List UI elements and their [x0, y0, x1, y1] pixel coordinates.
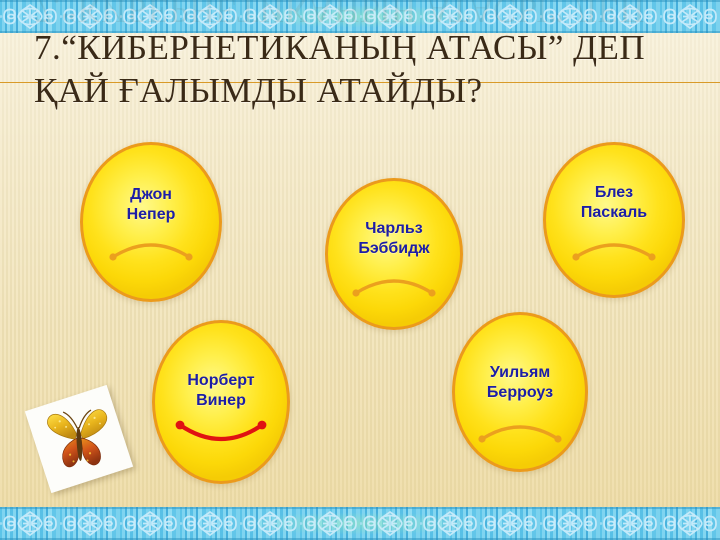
answer-label-uilyam-berrouz: Уильям Берроуз	[487, 363, 553, 403]
border-edge-line	[0, 507, 720, 509]
answer-option-uilyam-berrouz[interactable]: Уильям Берроуз	[452, 312, 588, 472]
presentation-slide: 7.“КИБЕРНЕТИКАНЫҢ АТАСЫ” ДЕП ҚАЙ ҒАЛЫМДЫ…	[0, 0, 720, 540]
frown-mouth-icon	[571, 235, 657, 261]
smile-mouth-icon	[174, 419, 268, 449]
answer-label-dzhon-neper: Джон Непер	[127, 185, 176, 225]
answer-option-norbert-viner[interactable]: Норберт Винер	[152, 320, 290, 484]
page-title-line1: 7.“КИБЕРНЕТИКАНЫҢ АТАСЫ” ДЕП	[34, 28, 645, 67]
page-title-line2: ҚАЙ ҒАЛЫМДЫ АТАЙДЫ?	[34, 71, 483, 110]
border-edge-line	[0, 0, 720, 2]
butterfly-icon	[39, 401, 120, 476]
butterfly-photo-card	[25, 385, 133, 493]
answer-option-dzhon-neper[interactable]: Джон Непер	[80, 142, 222, 302]
frown-mouth-icon	[108, 235, 194, 261]
ornament-pattern-bottom	[0, 507, 720, 540]
frown-mouth-icon	[477, 417, 563, 443]
answer-label-norbert-viner: Норберт Винер	[187, 371, 254, 411]
answer-option-charlz-bebbidzh[interactable]: Чарльз Бэббидж	[325, 178, 463, 330]
answer-option-blez-paskal[interactable]: Блез Паскаль	[543, 142, 685, 298]
answer-label-blez-paskal: Блез Паскаль	[581, 183, 647, 223]
page-title: 7.“КИБЕРНЕТИКАНЫҢ АТАСЫ” ДЕП ҚАЙ ҒАЛЫМДЫ…	[34, 26, 694, 113]
bottom-ornament-border	[0, 507, 720, 540]
frown-mouth-icon	[351, 271, 437, 297]
title-block: 7.“КИБЕРНЕТИКАНЫҢ АТАСЫ” ДЕП ҚАЙ ҒАЛЫМДЫ…	[34, 26, 694, 113]
answer-label-charlz-bebbidzh: Чарльз Бэббидж	[358, 219, 429, 259]
